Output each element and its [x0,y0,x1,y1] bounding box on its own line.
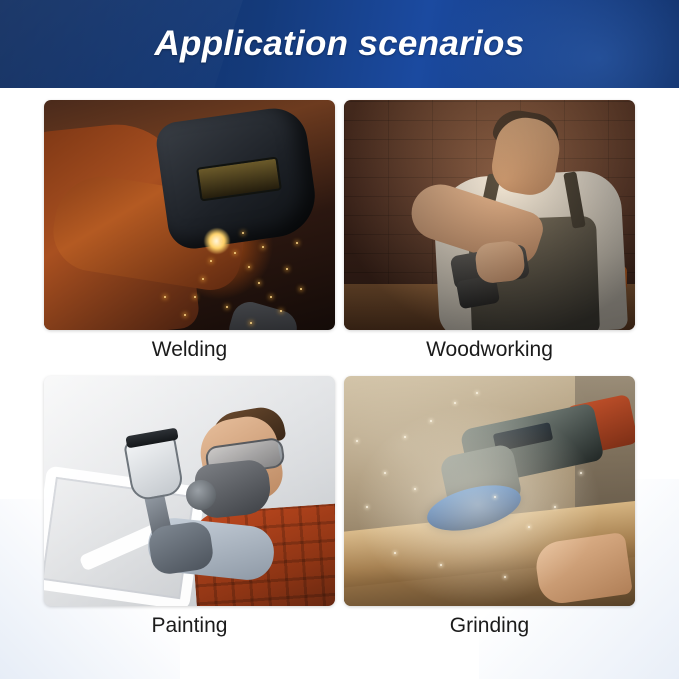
welding-photo [44,100,335,330]
welder-glove-right [225,298,301,330]
page-title: Application scenarios [154,24,524,64]
scenario-caption: Welding [152,339,228,360]
scenario-card-welding: Welding [44,100,335,372]
scenario-caption: Painting [152,615,228,636]
header-banner: Application scenarios [0,0,679,88]
dust-cloud [344,376,635,606]
photo-vignette [344,100,635,330]
weld-arc-flash [204,228,230,254]
grinding-photo [344,376,635,606]
scenario-card-woodworking: Woodworking [344,100,635,372]
woodworking-photo [344,100,635,330]
painting-photo [44,376,335,606]
application-scenarios-page: Application scenarios [0,0,679,679]
scenario-caption: Grinding [450,615,529,636]
scenario-caption: Woodworking [426,339,553,360]
scenario-card-painting: Painting [44,376,335,648]
gallery-area: Welding [0,88,679,679]
scenario-card-grinding: Grinding [344,376,635,648]
scenario-grid: Welding [44,100,635,648]
respirator-filter [186,480,216,510]
